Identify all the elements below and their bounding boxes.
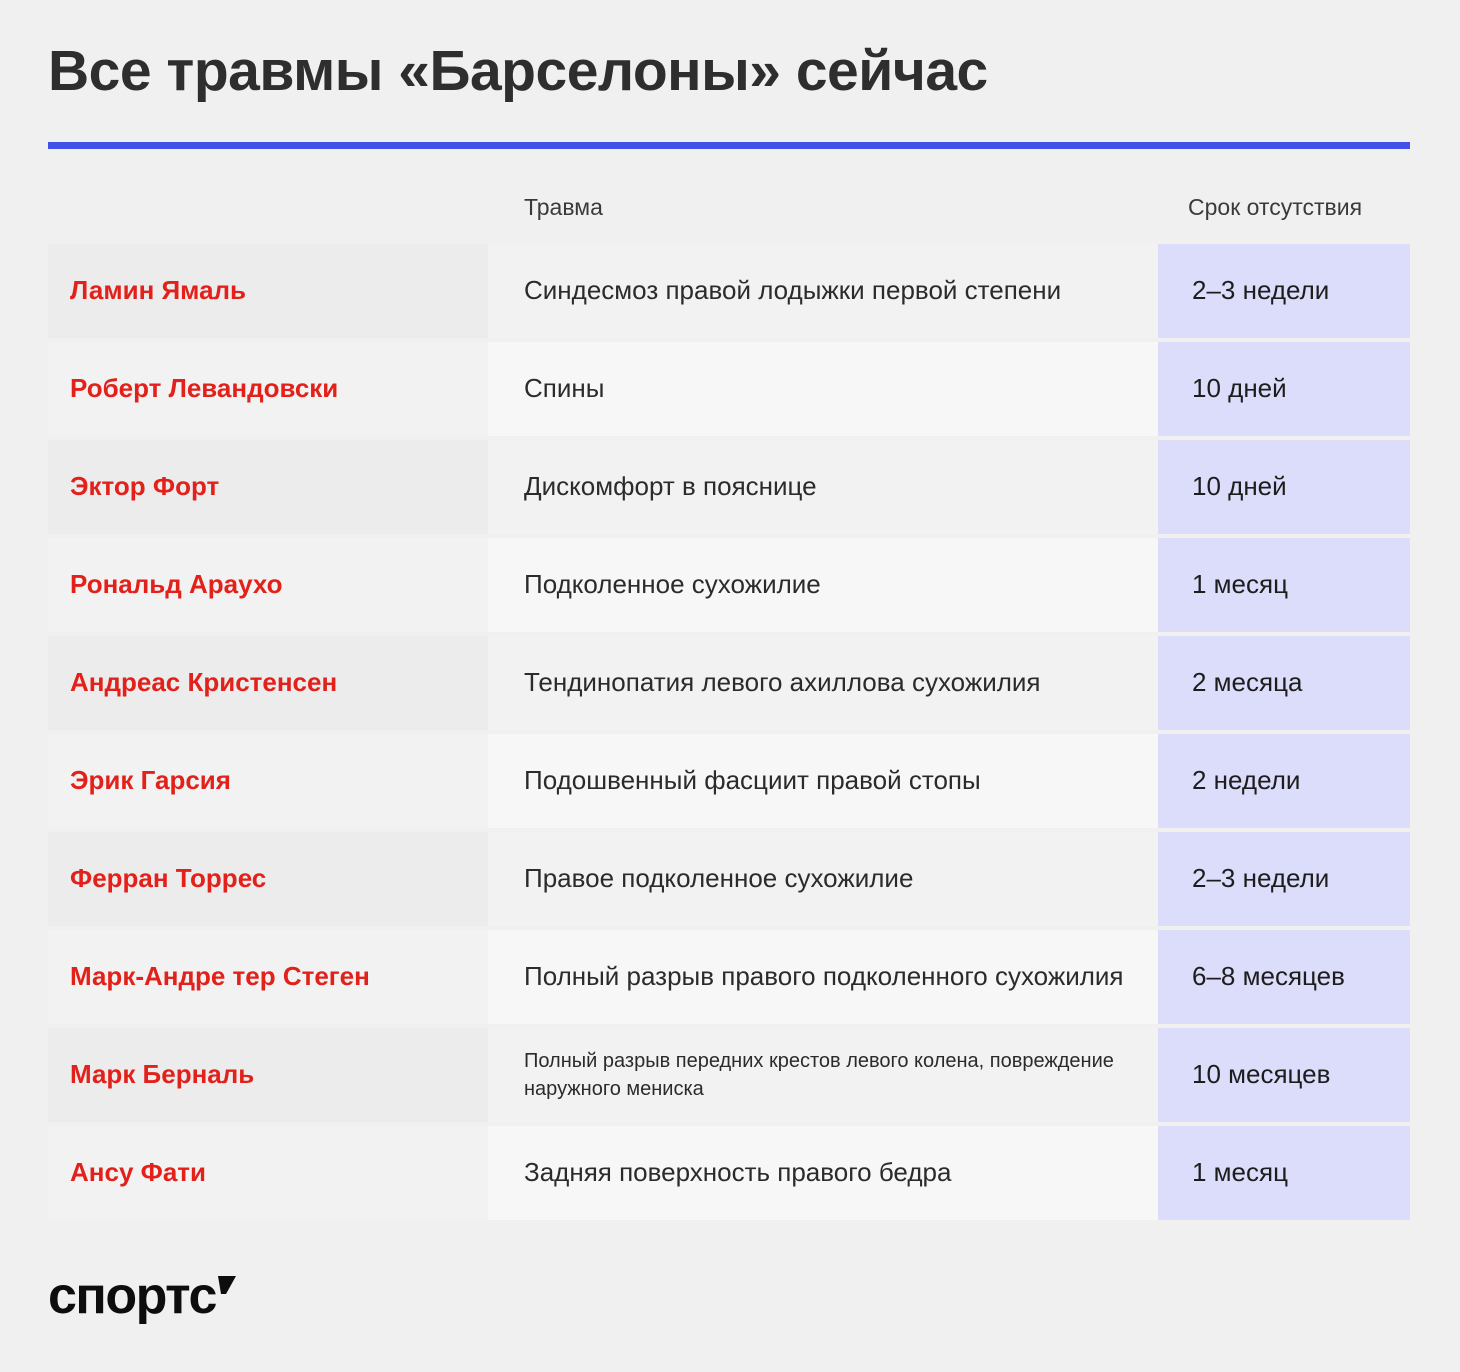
cell-player: Эрик Гарсия (48, 734, 488, 828)
absence-duration: 6–8 месяцев (1192, 961, 1345, 992)
cell-duration: 2–3 недели (1158, 244, 1410, 338)
injury-description: Подошвенный фасциит правой стопы (524, 764, 981, 798)
injury-description: Синдесмоз правой лодыжки первой степени (524, 274, 1061, 308)
infographic-page: Все травмы «Барселоны» сейчас Травма Сро… (0, 0, 1460, 1372)
header-cell-duration: Срок отсутствия (1158, 174, 1410, 240)
cell-duration: 2–3 недели (1158, 832, 1410, 926)
header-label-duration: Срок отсутствия (1188, 194, 1362, 221)
cell-injury: Синдесмоз правой лодыжки первой степени (488, 244, 1158, 338)
table-row: Марк БернальПолный разрыв передних крест… (48, 1028, 1410, 1122)
table-row: Ансу ФатиЗадняя поверхность правого бедр… (48, 1126, 1410, 1220)
cell-player: Ферран Торрес (48, 832, 488, 926)
cell-player: Марк-Андре тер Стеген (48, 930, 488, 1024)
absence-duration: 10 месяцев (1192, 1059, 1330, 1090)
injury-description: Тендинопатия левого ахиллова сухожилия (524, 666, 1041, 700)
cell-duration: 2 месяца (1158, 636, 1410, 730)
header-cell-player (48, 174, 488, 240)
absence-duration: 10 дней (1192, 471, 1287, 502)
absence-duration: 2 месяца (1192, 667, 1302, 698)
cell-duration: 2 недели (1158, 734, 1410, 828)
player-name: Эрик Гарсия (70, 766, 231, 796)
cell-injury: Подколенное сухожилие (488, 538, 1158, 632)
cell-injury: Задняя поверхность правого бедра (488, 1126, 1158, 1220)
injury-description: Задняя поверхность правого бедра (524, 1156, 951, 1190)
absence-duration: 10 дней (1192, 373, 1287, 404)
logo-quote-icon (210, 1272, 240, 1307)
cell-injury: Подошвенный фасциит правой стопы (488, 734, 1158, 828)
sports-ru-logo: спортс (48, 1270, 240, 1330)
absence-duration: 2–3 недели (1192, 275, 1329, 306)
table-row: Рональд АраухоПодколенное сухожилие1 мес… (48, 538, 1410, 632)
table-row: Андреас КристенсенТендинопатия левого ах… (48, 636, 1410, 730)
cell-injury: Спины (488, 342, 1158, 436)
injury-description: Спины (524, 372, 604, 406)
cell-player: Рональд Араухо (48, 538, 488, 632)
absence-duration: 1 месяц (1192, 1157, 1288, 1188)
cell-duration: 1 месяц (1158, 1126, 1410, 1220)
player-name: Ферран Торрес (70, 864, 266, 894)
logo-wordmark: спортс (48, 1270, 216, 1322)
injuries-table: Травма Срок отсутствия Ламин ЯмальСиндес… (48, 174, 1410, 1220)
cell-duration: 10 дней (1158, 342, 1410, 436)
cell-injury: Тендинопатия левого ахиллова сухожилия (488, 636, 1158, 730)
cell-injury: Дискомфорт в пояснице (488, 440, 1158, 534)
player-name: Ансу Фати (70, 1158, 206, 1188)
cell-duration: 10 дней (1158, 440, 1410, 534)
cell-duration: 1 месяц (1158, 538, 1410, 632)
absence-duration: 1 месяц (1192, 569, 1288, 600)
cell-duration: 6–8 месяцев (1158, 930, 1410, 1024)
player-name: Марк-Андре тер Стеген (70, 962, 370, 992)
absence-duration: 2–3 недели (1192, 863, 1329, 894)
table-body: Ламин ЯмальСиндесмоз правой лодыжки перв… (48, 244, 1410, 1220)
header-cell-injury: Травма (488, 174, 1158, 240)
player-name: Марк Берналь (70, 1060, 254, 1090)
injury-description: Полный разрыв правого подколенного сухож… (524, 960, 1124, 994)
player-name: Рональд Араухо (70, 570, 283, 600)
title-accent-rule (48, 142, 1410, 149)
injury-description: Правое подколенное сухожилие (524, 862, 913, 896)
cell-player: Андреас Кристенсен (48, 636, 488, 730)
absence-duration: 2 недели (1192, 765, 1300, 796)
cell-player: Роберт Левандовски (48, 342, 488, 436)
injury-description: Подколенное сухожилие (524, 568, 821, 602)
cell-player: Эктор Форт (48, 440, 488, 534)
table-header-row: Травма Срок отсутствия (48, 174, 1410, 240)
cell-injury: Полный разрыв передних крестов левого ко… (488, 1028, 1158, 1122)
player-name: Эктор Форт (70, 472, 219, 502)
cell-injury: Полный разрыв правого подколенного сухож… (488, 930, 1158, 1024)
table-row: Эктор ФортДискомфорт в пояснице10 дней (48, 440, 1410, 534)
cell-player: Ансу Фати (48, 1126, 488, 1220)
cell-injury: Правое подколенное сухожилие (488, 832, 1158, 926)
injury-description: Полный разрыв передних крестов левого ко… (524, 1047, 1140, 1103)
player-name: Андреас Кристенсен (70, 668, 337, 698)
table-row: Ферран ТорресПравое подколенное сухожили… (48, 832, 1410, 926)
table-row: Эрик ГарсияПодошвенный фасциит правой ст… (48, 734, 1410, 828)
table-row: Ламин ЯмальСиндесмоз правой лодыжки перв… (48, 244, 1410, 338)
player-name: Роберт Левандовски (70, 374, 338, 404)
page-title: Все травмы «Барселоны» сейчас (48, 40, 1412, 104)
player-name: Ламин Ямаль (70, 276, 246, 306)
cell-player: Марк Берналь (48, 1028, 488, 1122)
cell-duration: 10 месяцев (1158, 1028, 1410, 1122)
table-row: Роберт ЛевандовскиСпины10 дней (48, 342, 1410, 436)
header-label-injury: Травма (524, 194, 603, 221)
injury-description: Дискомфорт в пояснице (524, 470, 817, 504)
table-row: Марк-Андре тер СтегенПолный разрыв право… (48, 930, 1410, 1024)
cell-player: Ламин Ямаль (48, 244, 488, 338)
